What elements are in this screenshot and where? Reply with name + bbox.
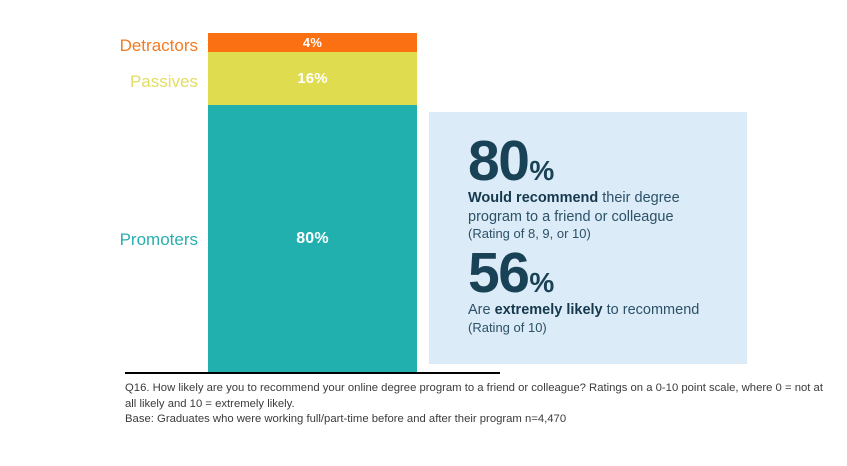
bar-segment-detractors: 4% [208,33,417,52]
stat-extremely-likely-number-row: 56 % [468,248,699,299]
bar-segment-promoters: 80% [208,105,417,372]
stat-extremely-likely-subnote: (Rating of 10) [468,320,699,337]
bar-segment-passives-value: 16% [297,70,328,87]
stat-extremely-likely-description-rest: to recommend [603,302,700,318]
stat-extremely-likely-description-bold: extremely likely [495,302,603,318]
stat-block-extremely-likely: 56 % Are extremely likely to recommend (… [468,248,699,337]
stat-recommend-number: 80 [468,136,528,187]
stat-recommend-description: Would recommend their degree program to … [468,189,718,226]
bar-segment-passives: 16% [208,52,417,105]
stat-block-recommend: 80 % Would recommend their degree progra… [468,136,718,243]
category-label-passives: Passives [130,73,198,90]
bar-segment-promoters-value: 80% [296,230,329,248]
stat-extremely-likely-number: 56 [468,248,528,299]
category-label-detractors: Detractors [120,37,198,54]
stat-extremely-likely-description: Are extremely likely to recommend [468,301,699,319]
footnote-base: Base: Graduates who were working full/pa… [125,411,825,427]
stat-recommend-percent-sign: % [529,158,554,183]
stacked-bar-chart: 4% 16% 80% [208,33,417,372]
stat-recommend-number-row: 80 % [468,136,718,187]
category-label-promoters: Promoters [120,231,198,248]
infographic-canvas: Detractors Passives Promoters 4% 16% 80%… [0,0,847,466]
footnote-question: Q16. How likely are you to recommend you… [125,380,825,413]
callout-panel: 80 % Would recommend their degree progra… [429,112,747,364]
stat-extremely-likely-description-lead: Are [468,302,495,318]
stat-recommend-description-bold: Would recommend [468,190,598,206]
stat-extremely-likely-percent-sign: % [529,270,554,295]
bar-segment-detractors-value: 4% [303,35,322,50]
chart-baseline-rule [125,372,500,374]
